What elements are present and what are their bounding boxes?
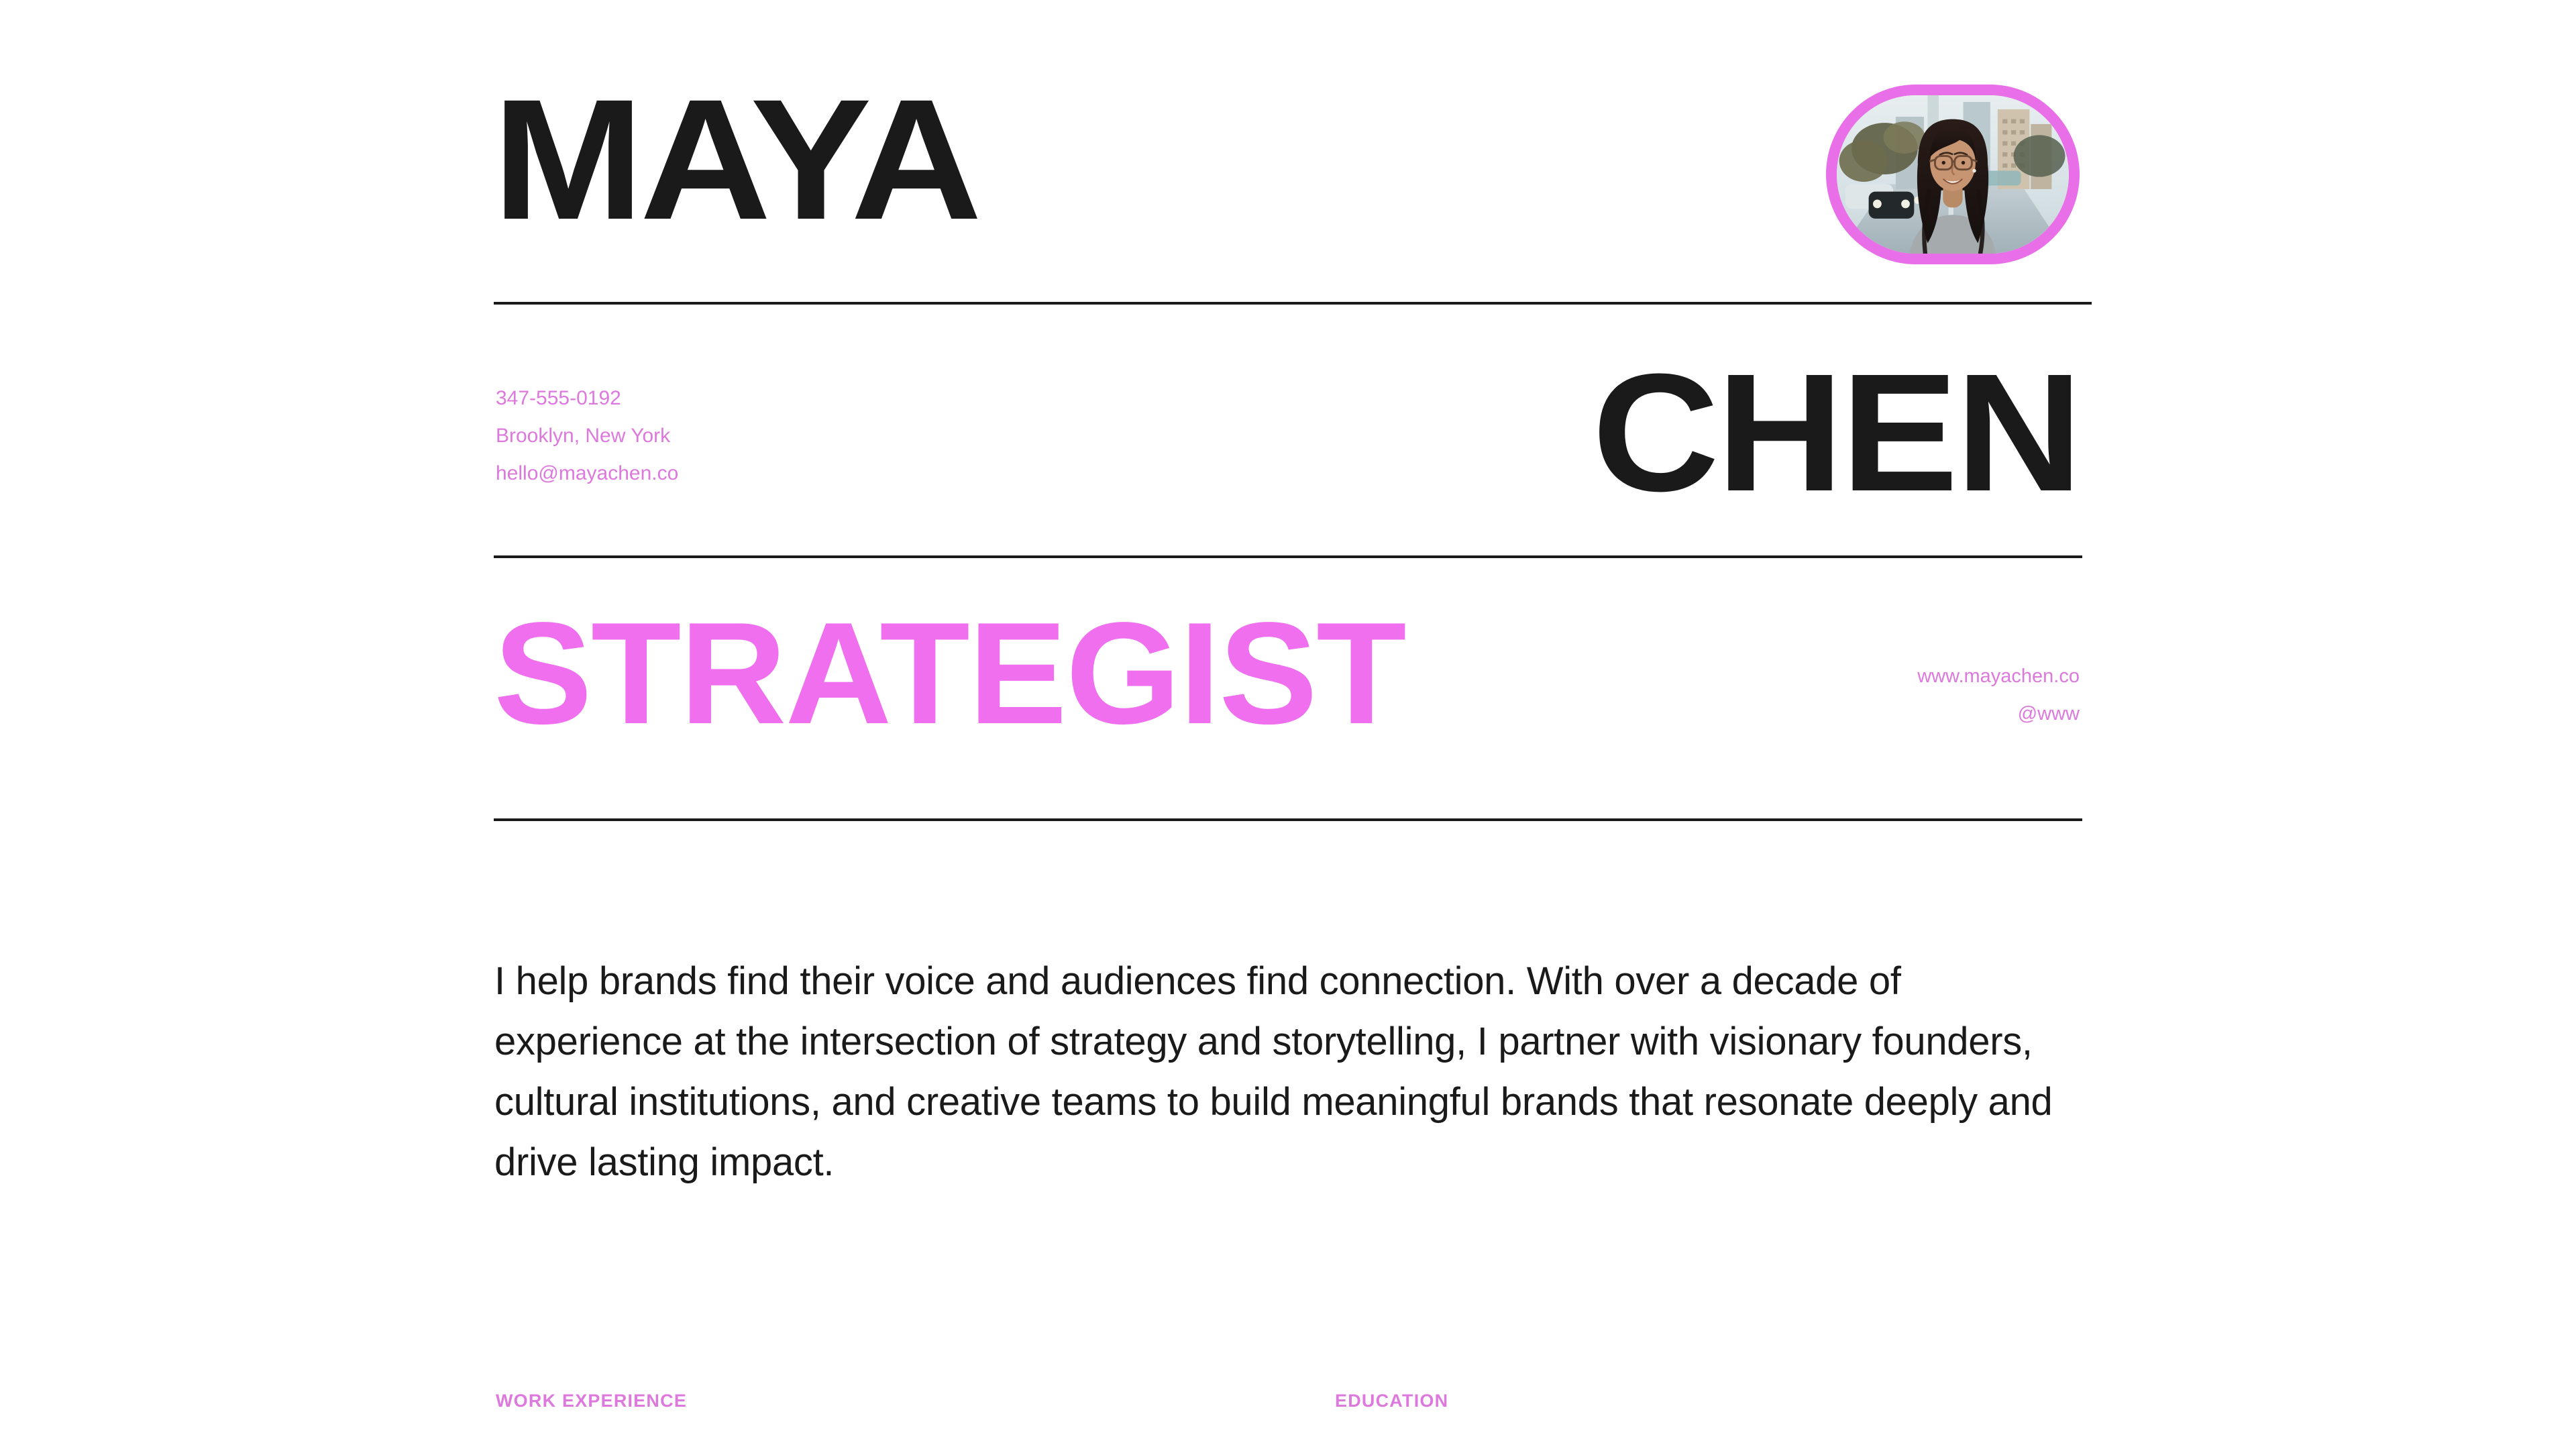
divider-middle [494,555,2082,558]
contact-phone[interactable]: 347-555-0192 [496,380,678,417]
bio-paragraph: I help brands find their voice and audie… [494,951,2091,1193]
contact-location: Brooklyn, New York [496,417,678,455]
links-block: www.mayachen.co @www [1917,657,2080,733]
role-title-heading: STRATEGIST [494,600,1405,745]
portrait-photo-icon [1837,95,2069,254]
section-label-education: EDUCATION [1335,1391,1448,1411]
resume-page: MAYA [0,0,2576,1449]
website-link[interactable]: www.mayachen.co [1917,657,2080,695]
social-handle[interactable]: @www [1917,695,2080,733]
section-label-work-experience: WORK EXPERIENCE [496,1391,687,1411]
contact-email[interactable]: hello@mayachen.co [496,455,678,492]
avatar [1826,85,2080,264]
first-name-heading: MAYA [492,74,978,246]
last-name-heading: CHEN [1592,349,2080,517]
divider-bottom [494,818,2082,821]
contact-block: 347-555-0192 Brooklyn, New York hello@ma… [496,380,678,492]
divider-top [494,302,2092,305]
